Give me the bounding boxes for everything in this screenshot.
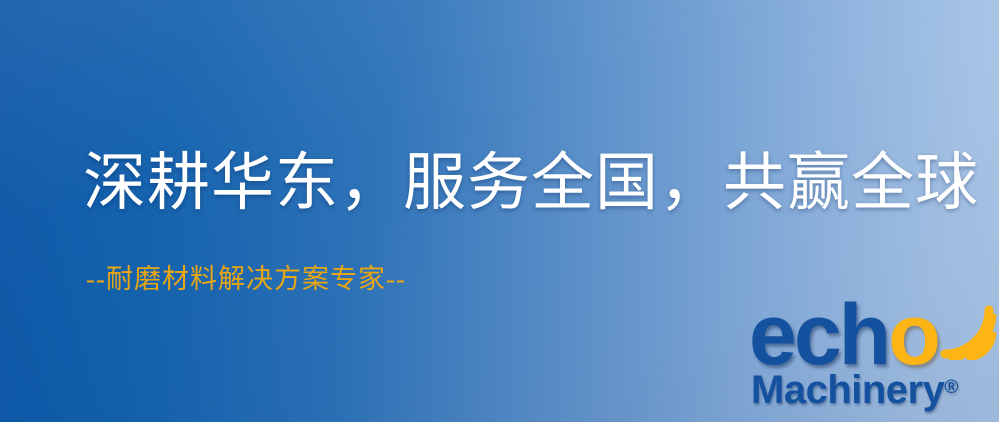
logo-echo-text: echo: [749, 292, 938, 378]
signal-waves-icon: [929, 294, 999, 360]
banner-headline: 深耕华东，服务全国，共赢全球: [83, 152, 979, 215]
registered-trademark-icon: ®: [944, 377, 958, 398]
promo-banner: 深耕华东，服务全国，共赢全球 --耐磨材料解决方案专家-- echo Machi…: [0, 0, 999, 422]
company-logo[interactable]: echo Machinery®: [745, 296, 999, 422]
logo-tagline: Machinery®: [751, 370, 958, 410]
banner-subtitle: --耐磨材料解决方案专家--: [86, 266, 406, 293]
logo-tagline-text: Machinery: [751, 368, 944, 412]
logo-wordmark: echo: [745, 296, 999, 378]
